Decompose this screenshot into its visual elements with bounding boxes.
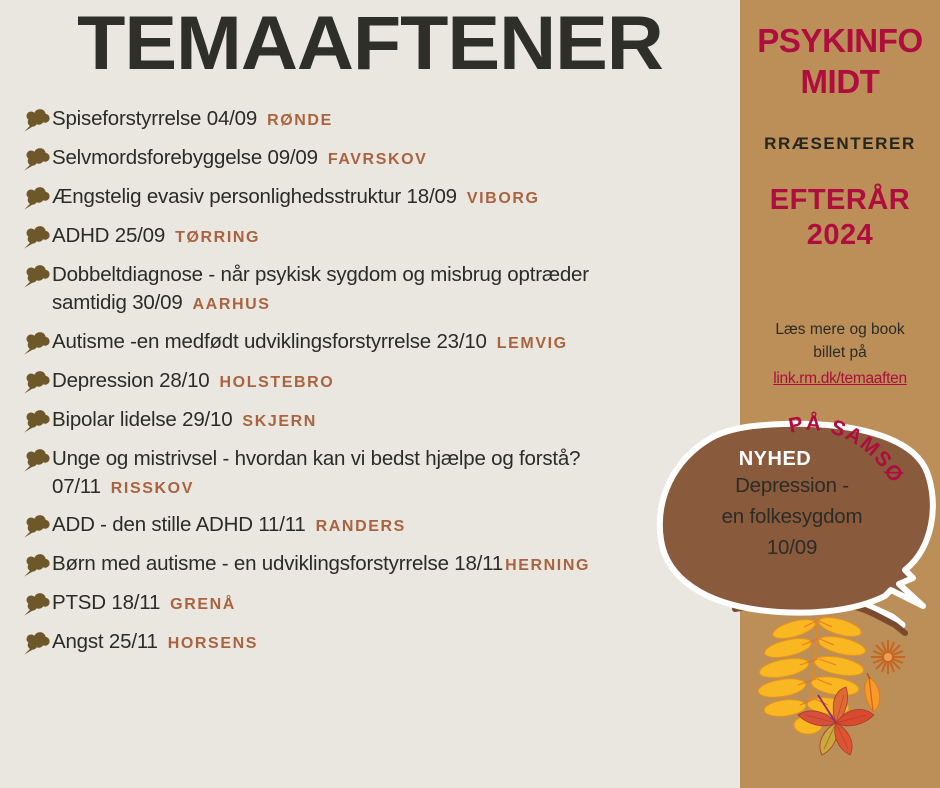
event-title: Børn med autisme - en udviklingsforstyrr…: [52, 552, 503, 575]
event-title: ADHD 25/09: [52, 224, 165, 247]
poster-canvas: TEMAAFTENER Spiseforstyrrelse 04/09RØNDE: [0, 0, 940, 788]
event-title: Angst 25/11: [52, 630, 158, 653]
list-item[interactable]: Dobbeltdiagnose - når psykisk sygdom og …: [22, 260, 740, 318]
event-city: LEMVIG: [497, 335, 568, 352]
pushpin-icon: [22, 407, 52, 435]
event-city: RANDERS: [316, 518, 406, 535]
list-item[interactable]: Autisme -en medfødt udviklingsforstyrrel…: [22, 327, 740, 357]
event-text: Børn med autisme - en udviklingsforstyrr…: [52, 549, 740, 578]
list-item[interactable]: Angst 25/11HORSENS: [22, 627, 740, 657]
event-city: FAVRSKOV: [328, 151, 428, 168]
event-text: Angst 25/11HORSENS: [52, 627, 740, 656]
highlight-content: NYHED Depression - en folkesygdom 10/09: [672, 448, 912, 563]
event-title: Depression 28/10: [52, 369, 210, 392]
event-title: PTSD 18/11: [52, 591, 160, 614]
event-title: Autisme -en medfødt udviklingsforstyrrel…: [52, 330, 487, 353]
pushpin-icon: [22, 629, 52, 657]
booking-line2: billet på: [813, 344, 866, 361]
event-title: ADD - den stille ADHD 11/11: [52, 513, 306, 536]
event-list: Spiseforstyrrelse 04/09RØNDE Selvmordsfo…: [22, 104, 740, 666]
event-text: Unge og mistrivsel - hvordan kan vi beds…: [52, 444, 632, 502]
pushpin-icon: [22, 262, 52, 290]
brand-name-line2: MIDT: [740, 63, 940, 101]
event-title: Selvmordsforebyggelse 09/09: [52, 146, 318, 169]
pushpin-icon: [22, 106, 52, 134]
event-city: AARHUS: [193, 296, 271, 313]
event-city: SKJERN: [242, 413, 317, 430]
booking-line1: Læs mere og book: [775, 321, 904, 338]
list-item[interactable]: ADD - den stille ADHD 11/11RANDERS: [22, 510, 740, 540]
highlight-line1: Depression -: [672, 471, 912, 502]
pushpin-icon: [22, 512, 52, 540]
highlight-line3: 10/09: [672, 533, 912, 564]
page-title: TEMAAFTENER: [0, 6, 755, 82]
season-year: 2024: [740, 219, 940, 252]
highlight-line2: en folkesygdom: [672, 502, 912, 533]
event-city: VIBORG: [467, 190, 540, 207]
event-city: GRENÅ: [170, 596, 236, 613]
pushpin-icon: [22, 551, 52, 579]
list-item[interactable]: Bipolar lidelse 29/10SKJERN: [22, 405, 740, 435]
booking-link[interactable]: link.rm.dk/temaaften: [744, 367, 936, 390]
presents-label: RRÆSENTERER: [740, 134, 940, 154]
event-text: ADHD 25/09TØRRING: [52, 221, 740, 250]
list-item[interactable]: ADHD 25/09TØRRING: [22, 221, 740, 251]
event-city: HOLSTEBRO: [220, 374, 335, 391]
list-item[interactable]: PTSD 18/11GRENÅ: [22, 588, 740, 618]
list-item[interactable]: Spiseforstyrrelse 04/09RØNDE: [22, 104, 740, 134]
booking-info: Læs mere og book billet på link.rm.dk/te…: [744, 318, 936, 390]
event-text: Depression 28/10HOLSTEBRO: [52, 366, 740, 395]
event-text: Dobbeltdiagnose - når psykisk sygdom og …: [52, 260, 652, 318]
event-city: RISSKOV: [111, 480, 194, 497]
main-column: TEMAAFTENER Spiseforstyrrelse 04/09RØNDE: [0, 0, 740, 788]
list-item[interactable]: Ængstelig evasiv personlighedsstruktur 1…: [22, 182, 740, 212]
sidebar: PSYKINFO MIDT RRÆSENTERER EFTERÅR 2024 L…: [740, 0, 940, 788]
pushpin-icon: [22, 329, 52, 357]
brand-name-line1: PSYKINFO: [740, 22, 940, 60]
pushpin-icon: [22, 223, 52, 251]
event-title: Dobbeltdiagnose - når psykisk sygdom og …: [52, 263, 589, 314]
event-city: TØRRING: [175, 229, 260, 246]
pushpin-icon: [22, 184, 52, 212]
pushpin-icon: [22, 145, 52, 173]
event-text: ADD - den stille ADHD 11/11RANDERS: [52, 510, 740, 539]
event-text: Ængstelig evasiv personlighedsstruktur 1…: [52, 182, 740, 211]
pushpin-icon: [22, 368, 52, 396]
event-city: HORSENS: [168, 635, 258, 652]
event-city: HERNING: [505, 557, 590, 574]
event-text: PTSD 18/11GRENÅ: [52, 588, 740, 617]
event-text: Bipolar lidelse 29/10SKJERN: [52, 405, 740, 434]
list-item[interactable]: Selvmordsforebyggelse 09/09FAVRSKOV: [22, 143, 740, 173]
season-label: EFTERÅR: [740, 184, 940, 217]
event-title: Spiseforstyrrelse 04/09: [52, 107, 257, 130]
event-text: Autisme -en medfødt udviklingsforstyrrel…: [52, 327, 740, 356]
pushpin-icon: [22, 446, 52, 474]
list-item[interactable]: Unge og mistrivsel - hvordan kan vi beds…: [22, 444, 740, 502]
list-item[interactable]: Depression 28/10HOLSTEBRO: [22, 366, 740, 396]
event-text: Selvmordsforebyggelse 09/09FAVRSKOV: [52, 143, 740, 172]
event-title: Bipolar lidelse 29/10: [52, 408, 232, 431]
list-item[interactable]: Børn med autisme - en udviklingsforstyrr…: [22, 549, 740, 579]
event-title: Ængstelig evasiv personlighedsstruktur 1…: [52, 185, 457, 208]
pushpin-icon: [22, 590, 52, 618]
event-text: Spiseforstyrrelse 04/09RØNDE: [52, 104, 740, 133]
event-city: RØNDE: [267, 112, 333, 129]
status-badge: NYHED: [638, 448, 912, 471]
